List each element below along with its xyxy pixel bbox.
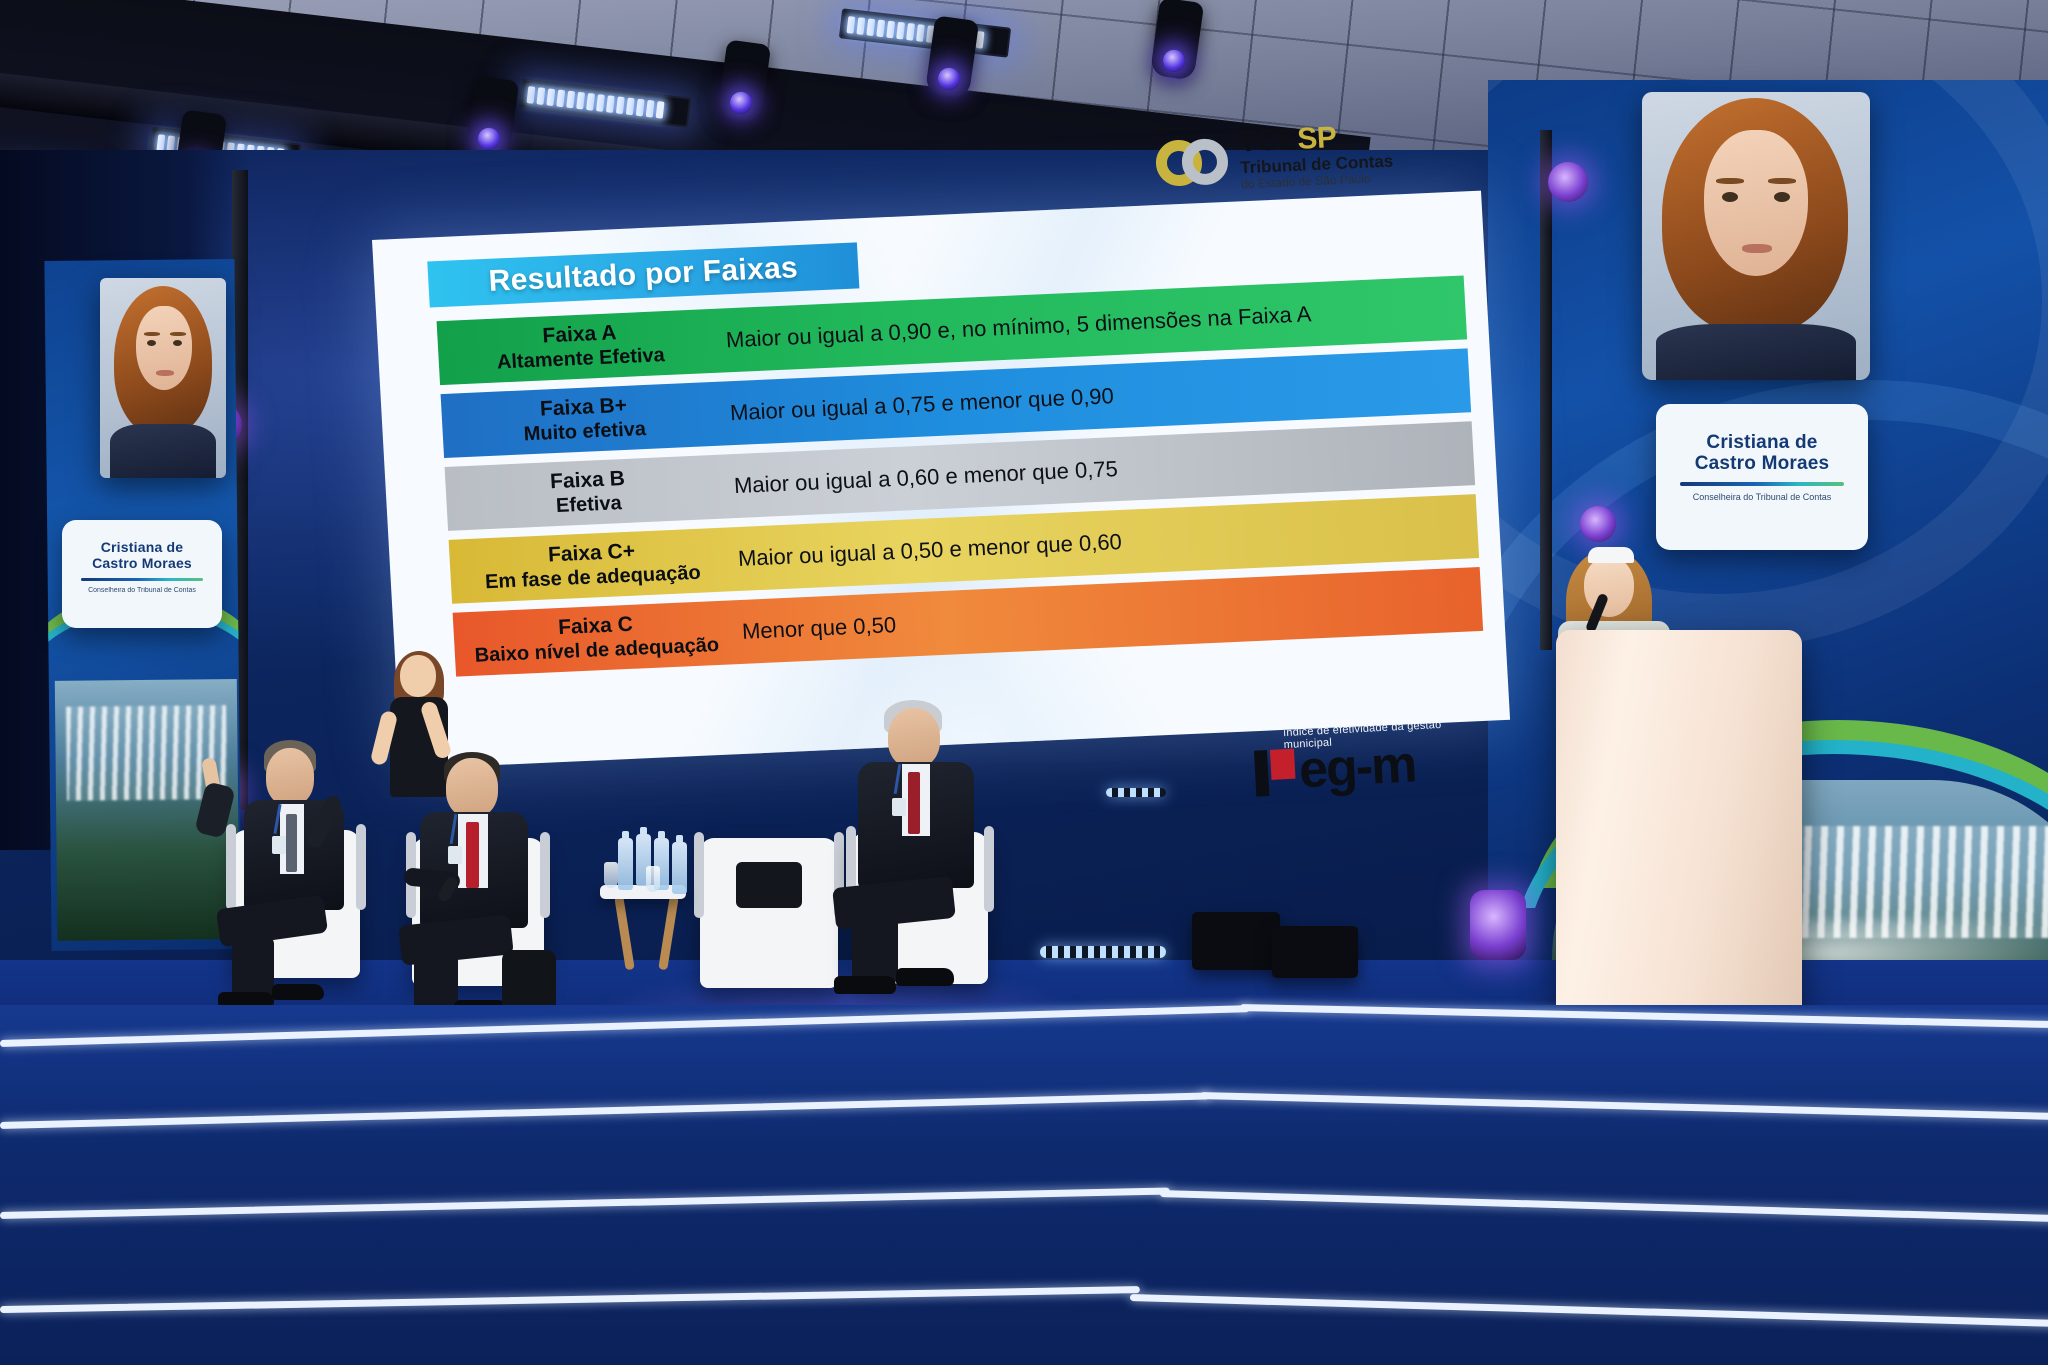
- tcesp-logo-mark-icon: [1154, 133, 1235, 188]
- portrait-eye: [1722, 192, 1738, 202]
- iegm-bar-icon: [1254, 750, 1269, 797]
- row-band-name: Faixa C: [558, 613, 634, 639]
- par-can-light: [1548, 162, 1588, 202]
- row-criteria: Maior ou igual a 0,75 e menor que 0,90: [713, 367, 1458, 427]
- right-speaker-portrait-screen: [1642, 92, 1870, 380]
- speaker-headband: [1588, 547, 1634, 563]
- panelist-shoe: [834, 976, 896, 994]
- row-band-label: Faixa B+ Muito efetiva: [453, 390, 715, 449]
- interpreter-head: [400, 655, 436, 697]
- right-nameplate-rule: [1680, 482, 1844, 486]
- water-bottle: [618, 838, 633, 890]
- portrait-eye: [1774, 192, 1790, 202]
- left-nameplate-role: Conselheira do Tribunal de Contas: [62, 587, 222, 594]
- row-band-description: Em fase de adequação: [462, 560, 723, 595]
- banner-waterfall-water: [66, 705, 227, 800]
- iegm-square-icon: [1270, 749, 1296, 780]
- speaker-face: [1584, 557, 1634, 617]
- panelist: [406, 752, 552, 1012]
- panelist-leg: [852, 916, 898, 984]
- panelist-head: [266, 748, 314, 806]
- armchair-empty: [700, 838, 838, 988]
- portrait-eyebrow: [144, 332, 160, 336]
- par-can-light: [1470, 890, 1526, 960]
- vertical-truss: [1540, 130, 1552, 650]
- tcesp-logo: TCESP Tribunal de Contas do Estado de Sã…: [1154, 121, 1394, 194]
- row-criteria: Maior ou igual a 0,90 e, no mínimo, 5 di…: [709, 295, 1454, 355]
- portrait-eye: [173, 340, 182, 346]
- portrait-mouth: [1742, 244, 1772, 253]
- drinking-glass: [604, 862, 618, 888]
- panelist-tie: [466, 822, 479, 888]
- portrait-face: [1704, 130, 1808, 276]
- iegm-wordmark: eg-m: [1298, 745, 1416, 793]
- row-band-label: Faixa C+ Em fase de adequação: [461, 536, 723, 595]
- portrait-face: [136, 306, 192, 390]
- row-band-label: Faixa C Baixo nível de adequação: [465, 609, 727, 668]
- panelist-head: [446, 758, 498, 818]
- right-nameplate-name-line2: Castro Moraes: [1656, 453, 1868, 474]
- right-nameplate-role: Conselheira do Tribunal de Contas: [1656, 492, 1868, 502]
- row-band-name: Faixa B+: [539, 394, 627, 421]
- row-criteria: Menor que 0,50: [725, 586, 1470, 646]
- water-bottle: [672, 842, 687, 894]
- portrait-mouth: [156, 370, 174, 376]
- panelist-badge: [892, 798, 906, 816]
- row-band-name: Faixa B: [550, 467, 626, 493]
- panelist-tie: [286, 814, 297, 872]
- panelist-shoe: [896, 968, 954, 986]
- row-band-label: Faixa A Altamente Efetiva: [449, 318, 711, 377]
- row-criteria: Maior ou igual a 0,50 e menor que 0,60: [721, 513, 1466, 573]
- left-nameplate: Cristiana de Castro Moraes Conselheira d…: [62, 520, 222, 628]
- row-band-name: Faixa A: [542, 322, 617, 348]
- floor-led-strip: [1040, 946, 1166, 958]
- projected-slide: TCESP Tribunal de Contas do Estado de Sã…: [372, 191, 1510, 770]
- row-criteria: Maior ou igual a 0,60 e menor que 0,75: [717, 440, 1462, 500]
- portrait-eyebrow: [1768, 178, 1796, 184]
- left-nameplate-name-line2: Castro Moraes: [62, 556, 222, 572]
- panelist-leg: [232, 936, 274, 1000]
- panelist-tie: [908, 772, 920, 834]
- stage-monitor-speaker: [1272, 926, 1358, 978]
- right-nameplate: Cristiana de Castro Moraes Conselheira d…: [1656, 404, 1868, 550]
- floor-led-strip: [1106, 788, 1166, 797]
- drinking-glass: [646, 866, 660, 892]
- portrait-eye: [147, 340, 156, 346]
- right-nameplate-name-line1: Cristiana de: [1656, 432, 1868, 453]
- slide-title: Resultado por Faixas: [427, 242, 859, 307]
- bag-on-chair: [736, 862, 802, 908]
- left-nameplate-rule: [81, 578, 203, 581]
- left-nameplate-name-line1: Cristiana de: [62, 540, 222, 556]
- stage-monitor-speaker: [1192, 912, 1280, 970]
- portrait-body: [1656, 324, 1856, 380]
- row-band-label: Faixa B Efetiva: [457, 463, 719, 522]
- conference-stage-photo: Cristiana de Castro Moraes Conselheira d…: [0, 0, 2048, 1365]
- podium: [1556, 630, 1802, 1030]
- faixa-table: Faixa A Altamente Efetiva Maior ou igual…: [395, 275, 1488, 678]
- panelist-badge: [272, 836, 286, 854]
- panelist-badge: [448, 846, 462, 864]
- panelist-head: [888, 708, 940, 768]
- panelist-shoe: [272, 984, 324, 1000]
- panelist: [228, 740, 368, 1000]
- portrait-body: [110, 424, 216, 478]
- row-band-description: Efetiva: [458, 487, 719, 522]
- row-band-name: Faixa C+: [547, 540, 635, 567]
- portrait-eyebrow: [170, 332, 186, 336]
- row-band-description: Muito efetiva: [454, 415, 715, 450]
- left-speaker-portrait-screen: [100, 278, 226, 478]
- row-band-description: Altamente Efetiva: [450, 342, 711, 377]
- par-can-light: [1580, 506, 1616, 542]
- portrait-eyebrow: [1716, 178, 1744, 184]
- row-band-description: Baixo nível de adequação: [466, 633, 727, 668]
- panelist: [846, 700, 996, 1000]
